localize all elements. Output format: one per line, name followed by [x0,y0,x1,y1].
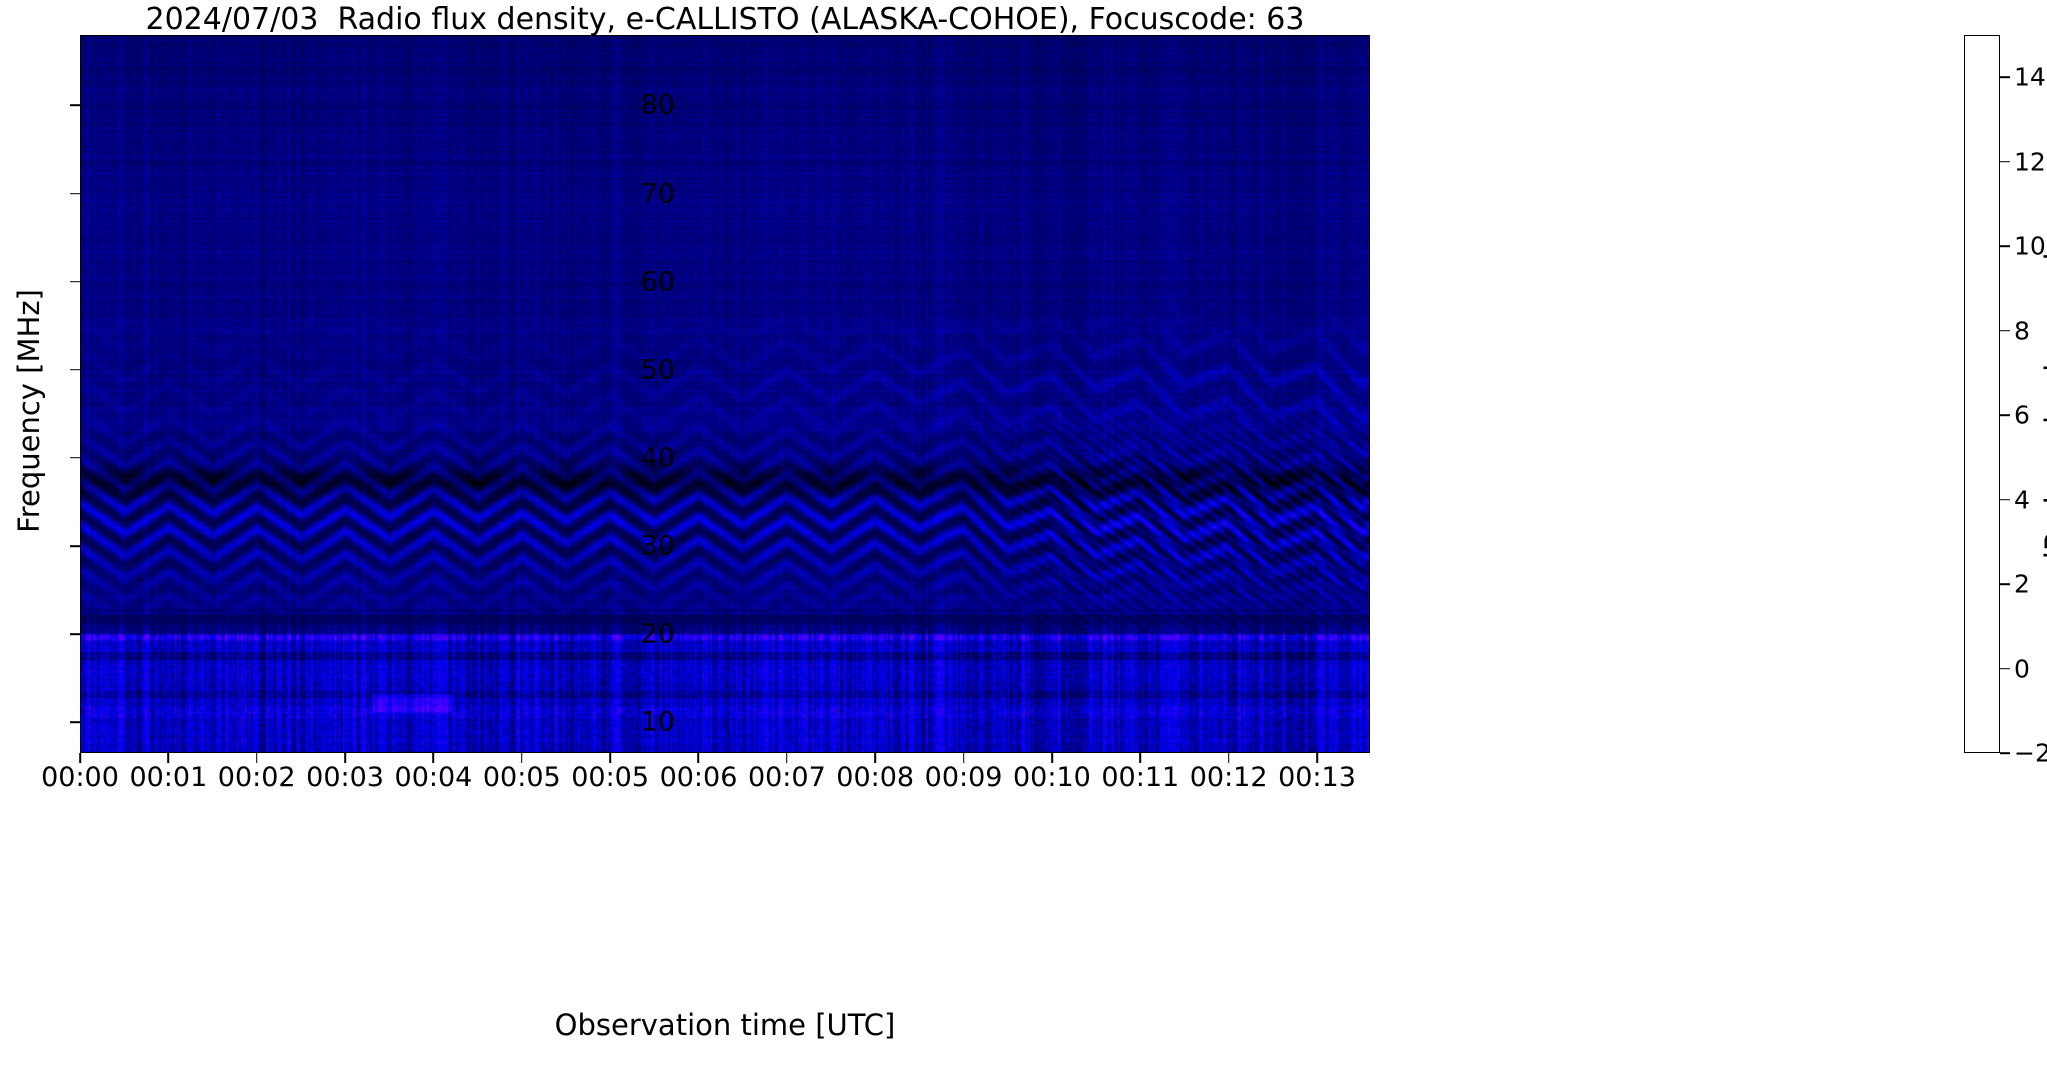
x-tick-mark [79,753,81,763]
x-tick-label: 00:01 [129,762,207,793]
x-tick-label: 00:04 [395,762,473,793]
colorbar-tick-label: 6 [2014,401,2030,430]
y-tick-mark [70,633,80,635]
x-tick-label: 00:05 [483,762,561,793]
y-tick-label: 20 [641,619,675,650]
x-tick-label: 00:00 [41,762,119,793]
colorbar-tick-mark [2000,583,2010,585]
spectrogram-figure: 2024/07/03 Radio flux density, e-CALLIST… [0,0,2047,1067]
x-tick-mark [168,753,170,763]
colorbar-tick-label: 2 [2014,570,2030,599]
colorbar [1964,35,2000,753]
colorbar-tick-label: 0 [2014,654,2030,683]
colorbar-box [1964,35,2000,753]
y-tick-label: 40 [641,442,675,473]
y-axis-label: Frequency [MHz] [12,151,46,671]
colorbar-tick-mark [2000,245,2010,247]
colorbar-tick-mark [2000,414,2010,416]
x-tick-label: 00:05 [571,762,649,793]
spectrogram-axes [80,35,1370,753]
colorbar-tick-mark [2000,330,2010,332]
x-tick-label: 00:09 [925,762,1003,793]
x-tick-mark [521,753,523,763]
y-tick-mark [70,457,80,459]
y-tick-label: 30 [641,530,675,561]
x-tick-label: 00:11 [1101,762,1179,793]
x-tick-label: 00:06 [660,762,738,793]
y-tick-label: 50 [641,354,675,385]
x-tick-mark [1228,753,1230,763]
x-tick-label: 00:02 [218,762,296,793]
spectrogram-image [81,36,1369,752]
x-tick-mark [433,753,435,763]
y-tick-mark [70,281,80,283]
colorbar-tick-mark [2000,499,2010,501]
x-tick-label: 00:12 [1190,762,1268,793]
colorbar-tick-label: 14 [2014,63,2046,92]
x-tick-label: 00:10 [1013,762,1091,793]
colorbar-tick-mark [2000,752,2010,754]
x-tick-label: 00:07 [748,762,826,793]
x-tick-mark [874,753,876,763]
y-tick-mark [70,193,80,195]
y-tick-mark [70,545,80,547]
x-tick-mark [1139,753,1141,763]
colorbar-tick-label: 8 [2014,316,2030,345]
colorbar-tick-label: −2 [2014,739,2047,768]
x-tick-mark [1316,753,1318,763]
colorbar-tick-label: 4 [2014,485,2030,514]
y-tick-mark [70,105,80,107]
colorbar-gradient [1965,36,1999,752]
colorbar-tick-mark [2000,76,2010,78]
y-tick-label: 80 [641,90,675,121]
x-tick-label: 00:13 [1278,762,1356,793]
y-tick-label: 60 [641,266,675,297]
colorbar-label: dB above background [2039,151,2047,671]
y-tick-label: 70 [641,178,675,209]
x-axis-label: Observation time [UTC] [80,1008,1370,1042]
x-tick-mark [256,753,258,763]
x-tick-label: 00:08 [836,762,914,793]
colorbar-tick-mark [2000,161,2010,163]
x-tick-mark [609,753,611,763]
colorbar-tick-mark [2000,668,2010,670]
x-tick-mark [698,753,700,763]
y-tick-mark [70,721,80,723]
x-tick-mark [344,753,346,763]
x-tick-label: 00:03 [306,762,384,793]
y-tick-mark [70,369,80,371]
figure-title: 2024/07/03 Radio flux density, e-CALLIST… [80,2,1370,37]
x-tick-mark [963,753,965,763]
x-tick-mark [786,753,788,763]
y-tick-label: 10 [641,707,675,738]
x-tick-mark [1051,753,1053,763]
